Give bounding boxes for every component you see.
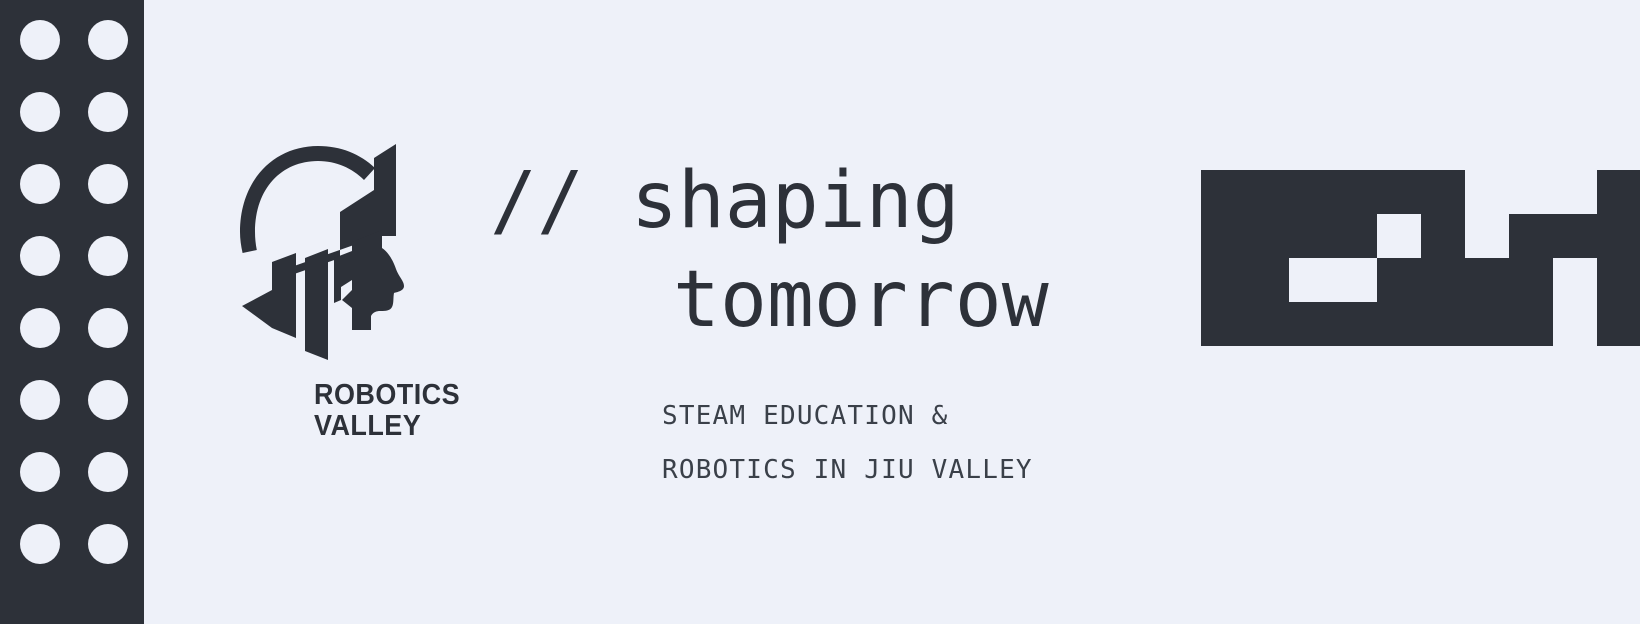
rail-dot [20, 452, 60, 492]
pixel-cell [1597, 170, 1640, 214]
rail-dot-grid [0, 0, 144, 624]
rail-dot [20, 308, 60, 348]
rail-dot [88, 92, 128, 132]
pixel-cell [1245, 170, 1289, 214]
pixel-cell [1421, 302, 1465, 346]
pixel-cell [1421, 170, 1465, 214]
pixel-cell [1421, 258, 1465, 302]
pixel-cell [1509, 258, 1553, 302]
rail-dot [88, 308, 128, 348]
headline-line-2: tomorrow [673, 255, 1049, 345]
pixel-cell [1377, 302, 1421, 346]
pixel-cell [1289, 170, 1333, 214]
pixel-cell [1377, 258, 1421, 302]
rail-dot [88, 452, 128, 492]
pixel-mosaic [1201, 170, 1640, 346]
pixel-cell [1289, 302, 1333, 346]
headline: // shapingtomorrow [490, 152, 1049, 350]
pixel-cell [1465, 302, 1509, 346]
pixel-cell [1245, 214, 1289, 258]
pixel-cell [1553, 214, 1597, 258]
rail-dot [88, 164, 128, 204]
banner-root: ROBOTICSVALLEY // shapingtomorrow STEAM … [0, 0, 1640, 624]
pixel-cell [1245, 258, 1289, 302]
pixel-cell [1597, 302, 1640, 346]
pixel-cell [1201, 170, 1245, 214]
pixel-cell [1201, 214, 1245, 258]
spartan-helmet-profile-icon [236, 140, 408, 360]
brand-wordmark: ROBOTICSVALLEY [314, 380, 460, 442]
pixel-cell [1289, 214, 1333, 258]
pixel-cell [1333, 214, 1377, 258]
rail-dot [20, 236, 60, 276]
pixel-cell [1509, 302, 1553, 346]
rail-dot [88, 524, 128, 564]
wordmark-line-1: ROBOTICS [314, 379, 460, 411]
headline-line-1: shaping [631, 156, 960, 246]
pixel-cell [1597, 214, 1640, 258]
pixel-cell [1201, 302, 1245, 346]
pixel-cell [1333, 302, 1377, 346]
pixel-cell [1465, 258, 1509, 302]
wordmark-line-2: VALLEY [314, 410, 421, 442]
pixel-cell [1509, 214, 1553, 258]
rail-dot [20, 164, 60, 204]
rail-dot [88, 20, 128, 60]
rail-dot [88, 236, 128, 276]
perforated-rail [0, 0, 144, 624]
rail-dot [20, 20, 60, 60]
pixel-cell [1421, 214, 1465, 258]
pixel-cell [1597, 258, 1640, 302]
pixel-cell [1333, 170, 1377, 214]
headline-slashes: // [490, 156, 631, 246]
pixel-cell [1201, 258, 1245, 302]
rail-dot [88, 380, 128, 420]
subtitle-line-2: ROBOTICS IN JIU VALLEY [662, 455, 1033, 485]
rail-dot [20, 92, 60, 132]
pixel-cell [1377, 170, 1421, 214]
rail-dot [20, 524, 60, 564]
pixel-cell [1245, 302, 1289, 346]
subtitle-line-1: STEAM EDUCATION & [662, 401, 949, 431]
brand-logo: ROBOTICSVALLEY [236, 140, 486, 450]
subtitle: STEAM EDUCATION &ROBOTICS IN JIU VALLEY [662, 389, 1033, 497]
rail-dot [20, 380, 60, 420]
